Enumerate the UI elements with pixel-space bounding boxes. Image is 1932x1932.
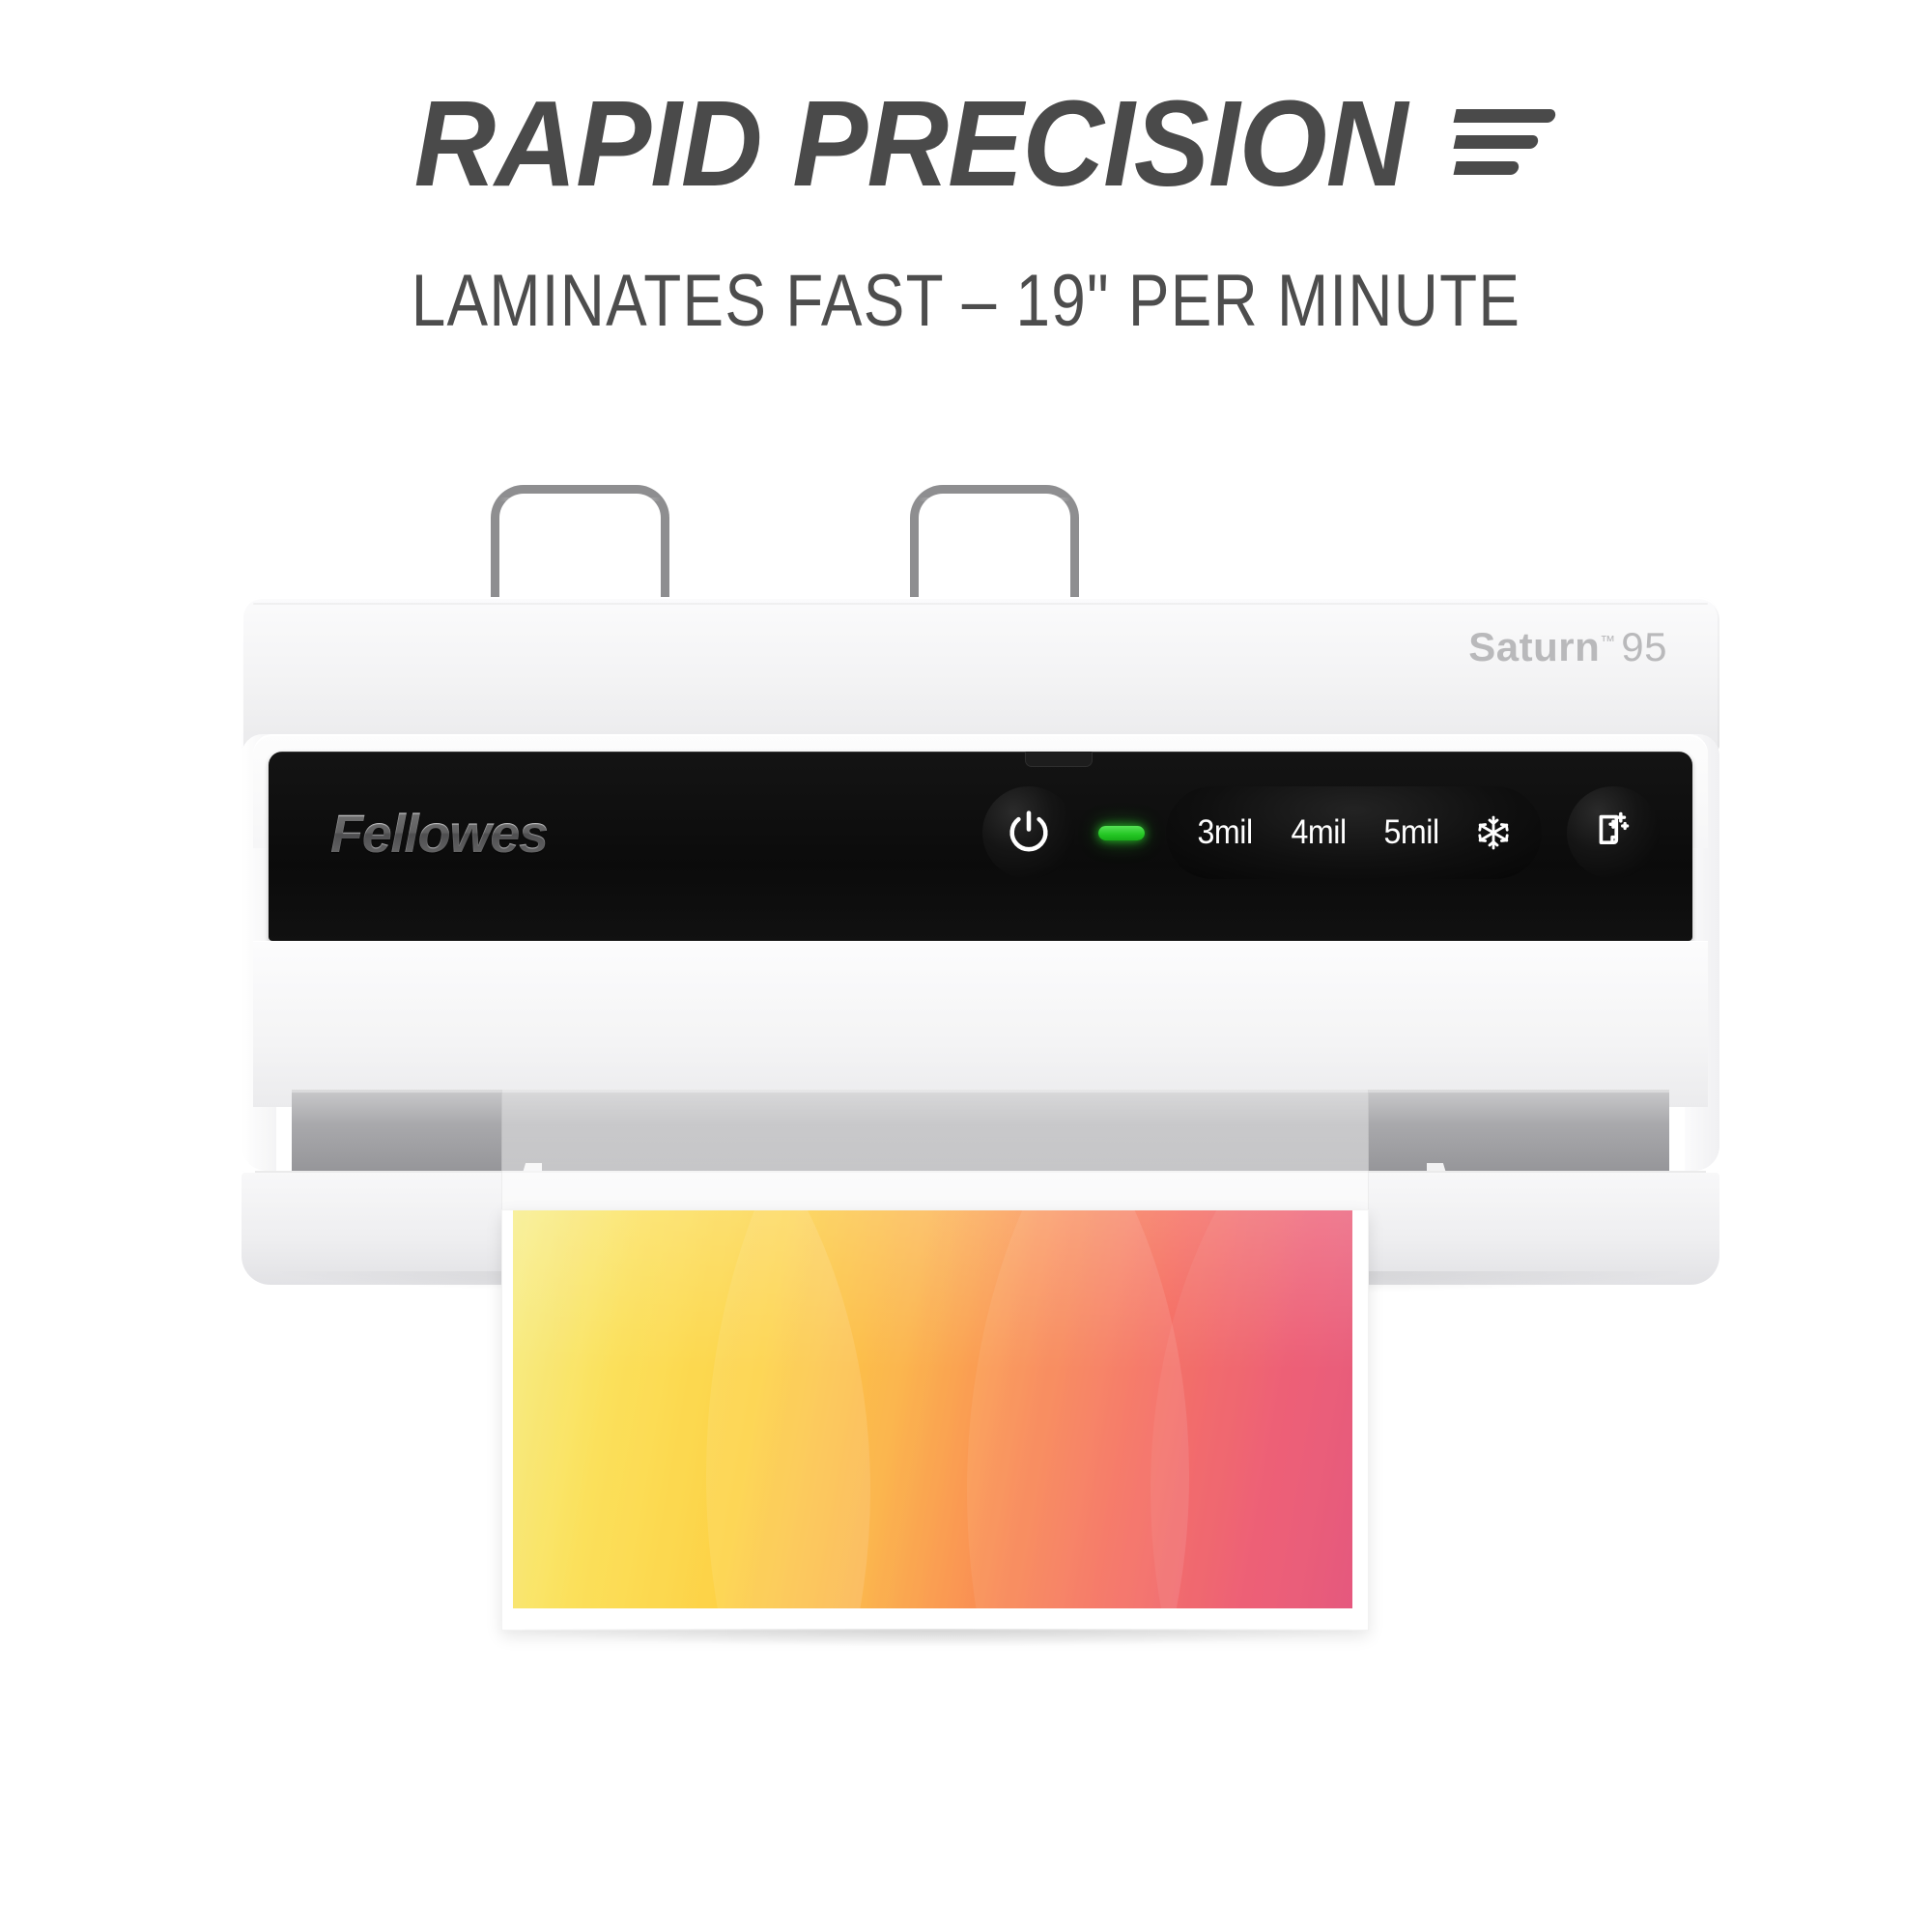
document-sparkle-icon xyxy=(1588,808,1638,858)
thickness-option-5mil[interactable]: 5mil xyxy=(1383,813,1438,852)
speed-line-3 xyxy=(1453,161,1520,175)
speed-lines-icon xyxy=(1455,109,1555,175)
page-subtitle: LAMINATES FAST – 19" PER MINUTE xyxy=(155,259,1777,343)
control-panel: Fellowes 3mil 4mil 5mil xyxy=(269,752,1692,941)
enhance-button[interactable] xyxy=(1567,786,1660,879)
sheet-gloss-sheen xyxy=(513,1210,1352,1370)
model-name-label: Saturn™95 xyxy=(1468,624,1667,670)
control-row: 3mil 4mil 5mil xyxy=(982,786,1660,879)
speed-line-1 xyxy=(1453,109,1556,123)
thickness-option-3mil[interactable]: 3mil xyxy=(1198,813,1253,852)
trademark-symbol: ™ xyxy=(1600,634,1615,650)
power-led-indicator xyxy=(1098,826,1145,840)
page-title: RAPID PRECISION xyxy=(414,83,1407,205)
snowflake-icon[interactable] xyxy=(1474,813,1513,852)
panel-notch xyxy=(1025,752,1093,767)
power-button[interactable] xyxy=(982,786,1075,879)
headline-row: RAPID PRECISION xyxy=(0,83,1932,205)
speed-line-2 xyxy=(1453,135,1539,149)
fellowes-brand-logo: Fellowes xyxy=(330,802,548,865)
power-icon xyxy=(1004,808,1054,858)
thickness-selector[interactable]: 3mil 4mil 5mil xyxy=(1166,786,1542,879)
model-brand-text: Saturn xyxy=(1468,624,1600,669)
laminator-top-shell: Saturn™95 xyxy=(241,597,1719,752)
laminated-output-sheet xyxy=(501,1209,1369,1631)
thickness-option-4mil[interactable]: 4mil xyxy=(1291,813,1346,852)
model-number-text: 95 xyxy=(1621,624,1667,669)
sheet-drop-shadow xyxy=(522,1629,1352,1646)
snowflake-glyph xyxy=(1474,813,1513,852)
laminator-lower-front xyxy=(253,941,1708,1107)
sheet-gradient-artwork xyxy=(513,1210,1352,1608)
